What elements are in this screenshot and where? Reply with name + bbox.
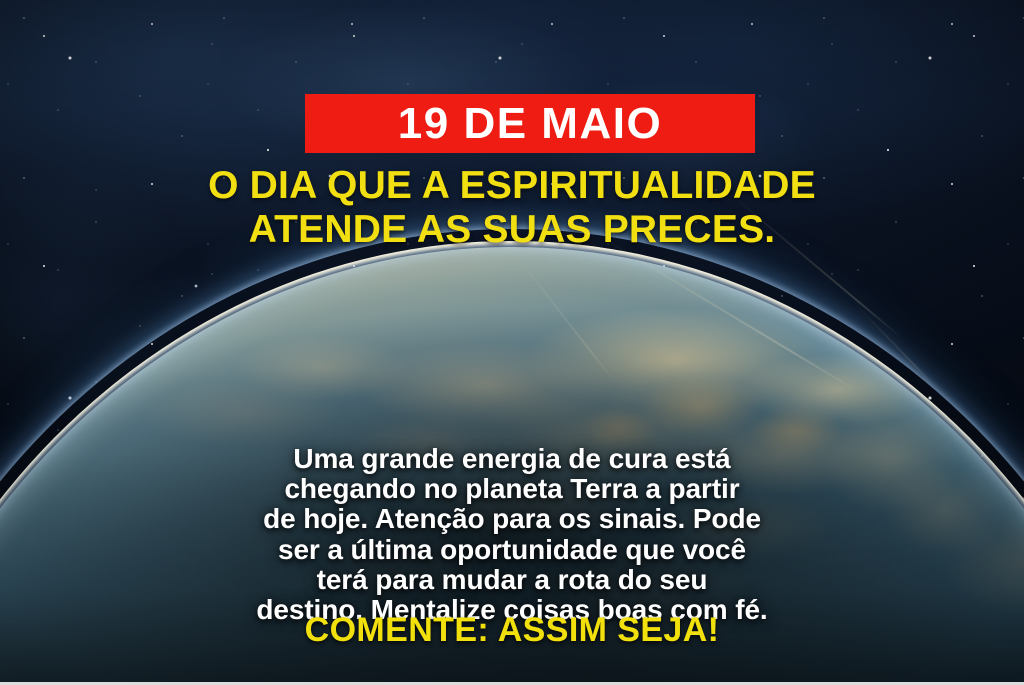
- body-line-3: de hoje. Atenção para os sinais. Pode: [40, 504, 984, 534]
- body-line-5: terá para mudar a rota do seu: [40, 565, 984, 595]
- poster-canvas: 19 DE MAIO O DIA QUE A ESPIRITUALIDADE A…: [0, 0, 1024, 685]
- headline-line-2: ATENDE AS SUAS PRECES.: [0, 208, 1024, 252]
- body-line-1: Uma grande energia de cura está: [40, 444, 984, 474]
- date-banner-label: 19 DE MAIO: [398, 102, 662, 146]
- poster-content: 19 DE MAIO O DIA QUE A ESPIRITUALIDADE A…: [0, 0, 1024, 685]
- body-line-4: ser a última oportunidade que você: [40, 535, 984, 565]
- body-paragraph: Uma grande energia de cura está chegando…: [40, 444, 984, 625]
- date-banner: 19 DE MAIO: [305, 94, 755, 153]
- body-line-2: chegando no planeta Terra a partir: [40, 474, 984, 504]
- headline-line-1: O DIA QUE A ESPIRITUALIDADE: [0, 164, 1024, 208]
- call-to-action-text: COMENTE: ASSIM SEJA!: [0, 612, 1024, 649]
- headline: O DIA QUE A ESPIRITUALIDADE ATENDE AS SU…: [0, 164, 1024, 252]
